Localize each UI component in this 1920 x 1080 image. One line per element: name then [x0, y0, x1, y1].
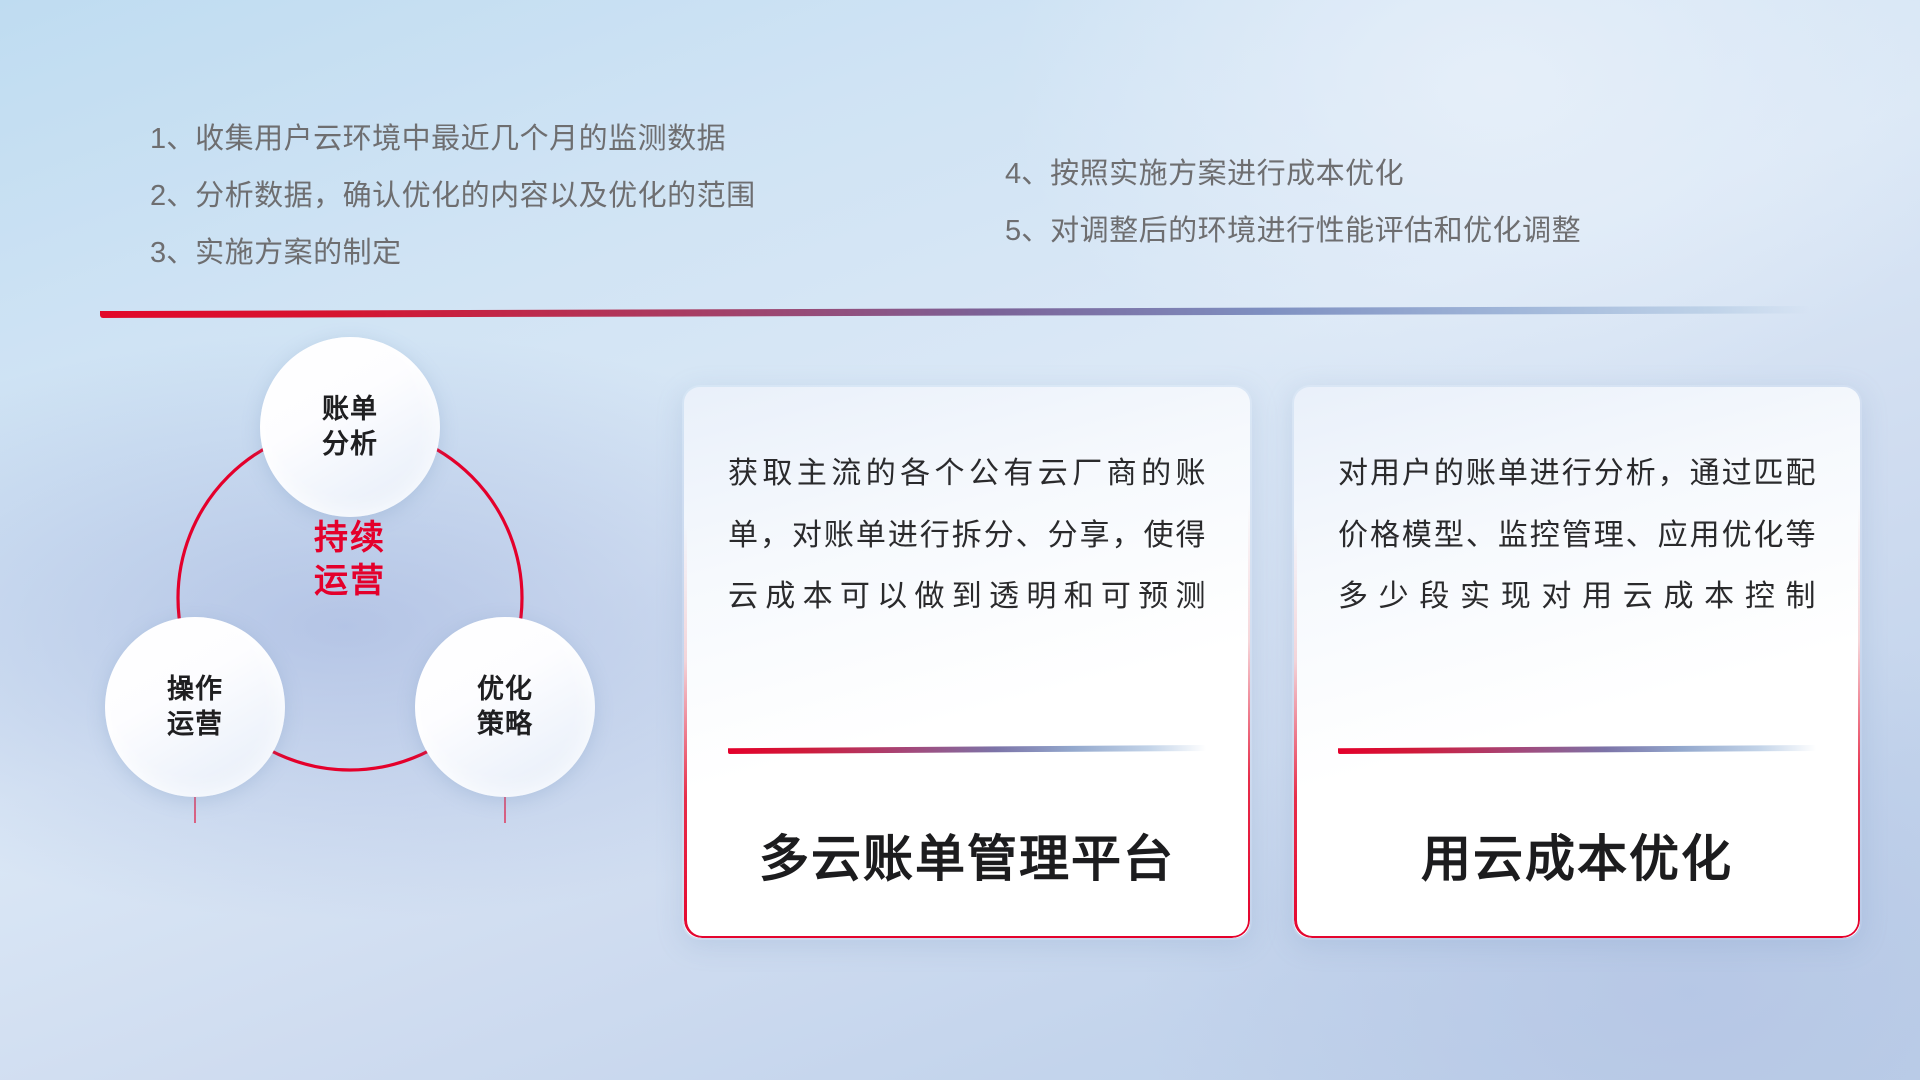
step-text: 实施方案的制定 — [195, 237, 402, 269]
feature-card-cost-optimization[interactable]: 对用户的账单进行分析，通过匹配价格模型、监控管理、应用优化等多少段实现对用云成本… — [1292, 385, 1862, 940]
cycle-node-label-line2: 运营 — [167, 707, 223, 742]
cycle-node-label-line1: 操作 — [167, 672, 223, 707]
step-number: 2、 — [150, 180, 195, 212]
step-text: 对调整后的环境进行性能评估和优化调整 — [1050, 215, 1581, 247]
step-number: 4、 — [1005, 158, 1050, 190]
process-steps-left: 1、收集用户云环境中最近几个月的监测数据 2、分析数据，确认优化的内容以及优化的… — [150, 125, 756, 296]
card-title: 用云成本优化 — [1294, 819, 1860, 891]
step-text: 收集用户云环境中最近几个月的监测数据 — [195, 123, 726, 155]
card-description: 对用户的账单进行分析，通过匹配价格模型、监控管理、应用优化等多少段实现对用云成本… — [1338, 443, 1816, 651]
cycle-node-label-line2: 分析 — [322, 427, 378, 462]
step-text: 分析数据，确认优化的内容以及优化的范围 — [195, 180, 756, 212]
cycle-center-line2: 运营 — [255, 560, 445, 603]
cycle-node-optimization-strategy[interactable]: 优化 策略 — [415, 617, 595, 797]
process-steps-right: 4、按照实施方案进行成本优化 5、对调整后的环境进行性能评估和优化调整 — [1005, 160, 1581, 274]
gradient-divider — [100, 306, 1810, 318]
card-title: 多云账单管理平台 — [684, 819, 1250, 891]
cycle-node-operations[interactable]: 操作 运营 — [105, 617, 285, 797]
step-number: 1、 — [150, 123, 195, 155]
cycle-diagram: 账单 分析 操作 运营 优化 策略 持续 运营 — [95, 345, 655, 925]
process-step-1: 1、收集用户云环境中最近几个月的监测数据 — [150, 125, 756, 154]
card-accent-rule — [1338, 745, 1816, 754]
card-accent-rule — [728, 745, 1206, 754]
step-number: 5、 — [1005, 215, 1050, 247]
cycle-center-line1: 持续 — [255, 517, 445, 560]
process-step-3: 3、实施方案的制定 — [150, 239, 756, 268]
process-step-5: 5、对调整后的环境进行性能评估和优化调整 — [1005, 217, 1581, 246]
process-step-4: 4、按照实施方案进行成本优化 — [1005, 160, 1581, 189]
step-number: 3、 — [150, 237, 195, 269]
process-step-2: 2、分析数据，确认优化的内容以及优化的范围 — [150, 182, 756, 211]
card-description: 获取主流的各个公有云厂商的账单，对账单进行拆分、分享，使得云成本可以做到透明和可… — [728, 443, 1206, 651]
cycle-node-billing-analysis[interactable]: 账单 分析 — [260, 337, 440, 517]
step-text: 按照实施方案进行成本优化 — [1050, 158, 1404, 190]
cycle-node-label-line1: 账单 — [322, 392, 378, 427]
cycle-node-label-line2: 策略 — [477, 707, 533, 742]
cycle-center-label: 持续 运营 — [255, 517, 445, 602]
feature-card-multicloud-billing[interactable]: 获取主流的各个公有云厂商的账单，对账单进行拆分、分享，使得云成本可以做到透明和可… — [682, 385, 1252, 940]
cycle-node-label-line1: 优化 — [477, 672, 533, 707]
